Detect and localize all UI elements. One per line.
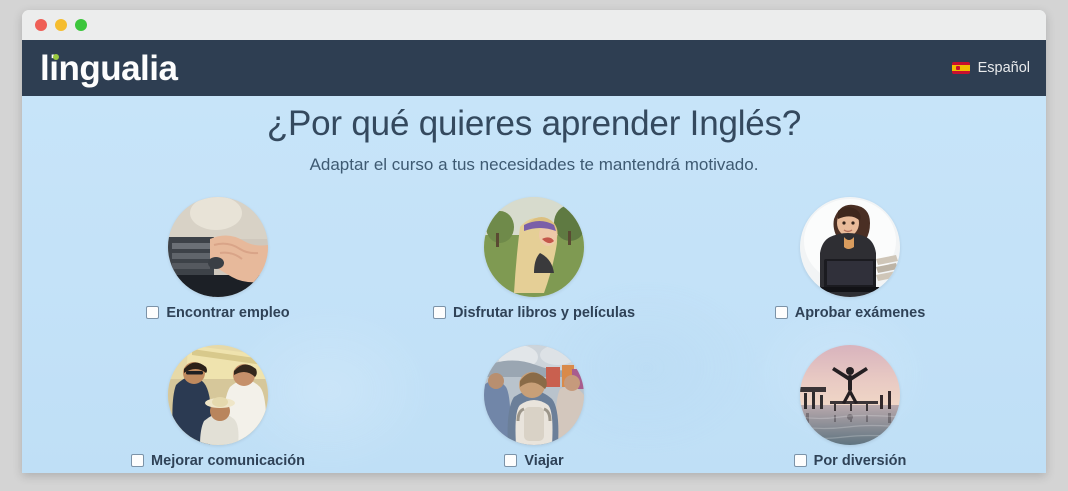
option-label-row[interactable]: Aprobar exámenes bbox=[775, 305, 926, 321]
close-window-button[interactable] bbox=[35, 19, 47, 31]
option-label-row[interactable]: Viajar bbox=[504, 453, 563, 469]
maximize-window-button[interactable] bbox=[75, 19, 87, 31]
option-checkbox[interactable] bbox=[131, 454, 144, 467]
traffic-light-buttons[interactable] bbox=[35, 19, 87, 31]
option-label: Mejorar comunicación bbox=[151, 453, 305, 469]
language-label: Español bbox=[978, 60, 1030, 76]
people-talking-outdoors-image[interactable] bbox=[168, 345, 268, 445]
logo-accent-dot-icon bbox=[53, 54, 59, 60]
option-encontrar-empleo[interactable]: Encontrar empleo bbox=[60, 197, 376, 321]
blonde-woman-outdoors-image[interactable] bbox=[484, 197, 584, 297]
option-disfrutar-libros-peliculas[interactable]: Disfrutar libros y películas bbox=[376, 197, 692, 321]
option-label-row[interactable]: Disfrutar libros y películas bbox=[433, 305, 635, 321]
option-checkbox[interactable] bbox=[794, 454, 807, 467]
learning-goal-options: Encontrar empleo bbox=[22, 197, 1046, 469]
minimize-window-button[interactable] bbox=[55, 19, 67, 31]
page-subtitle: Adaptar el curso a tus necesidades te ma… bbox=[22, 155, 1046, 175]
option-label: Disfrutar libros y películas bbox=[453, 305, 635, 321]
person-jumping-at-sunset-image[interactable] bbox=[800, 345, 900, 445]
window-title-bar bbox=[22, 10, 1046, 40]
option-label-row[interactable]: Encontrar empleo bbox=[146, 305, 289, 321]
browser-window: lingualia Español ¿Por qué quieres apren… bbox=[22, 10, 1046, 473]
backpacker-in-crowd-image[interactable] bbox=[484, 345, 584, 445]
screen: lingualia Español ¿Por qué quieres apren… bbox=[0, 0, 1068, 491]
option-aprobar-examenes[interactable]: Aprobar exámenes bbox=[692, 197, 1008, 321]
language-selector[interactable]: Español bbox=[952, 60, 1030, 76]
option-viajar[interactable]: Viajar bbox=[376, 345, 692, 469]
option-label: Por diversión bbox=[814, 453, 907, 469]
lingualia-logo[interactable]: lingualia bbox=[38, 51, 177, 86]
option-por-diversion[interactable]: Por diversión bbox=[692, 345, 1008, 469]
option-label-row[interactable]: Mejorar comunicación bbox=[131, 453, 305, 469]
woman-with-laptop-and-books-image[interactable] bbox=[800, 197, 900, 297]
option-label: Aprobar exámenes bbox=[795, 305, 926, 321]
option-checkbox[interactable] bbox=[775, 306, 788, 319]
logo-text: lingualia bbox=[40, 49, 177, 88]
site-header: lingualia Español bbox=[22, 40, 1046, 96]
option-checkbox[interactable] bbox=[504, 454, 517, 467]
page-title: ¿Por qué quieres aprender Inglés? bbox=[22, 96, 1046, 146]
option-label-row[interactable]: Por diversión bbox=[794, 453, 907, 469]
option-checkbox[interactable] bbox=[146, 306, 159, 319]
option-mejorar-comunicacion[interactable]: Mejorar comunicación bbox=[60, 345, 376, 469]
option-checkbox[interactable] bbox=[433, 306, 446, 319]
option-label: Encontrar empleo bbox=[166, 305, 289, 321]
spain-flag-icon bbox=[952, 62, 970, 74]
hands-typing-keyboard-image[interactable] bbox=[168, 197, 268, 297]
option-label: Viajar bbox=[524, 453, 563, 469]
main-content: ¿Por qué quieres aprender Inglés? Adapta… bbox=[22, 96, 1046, 473]
